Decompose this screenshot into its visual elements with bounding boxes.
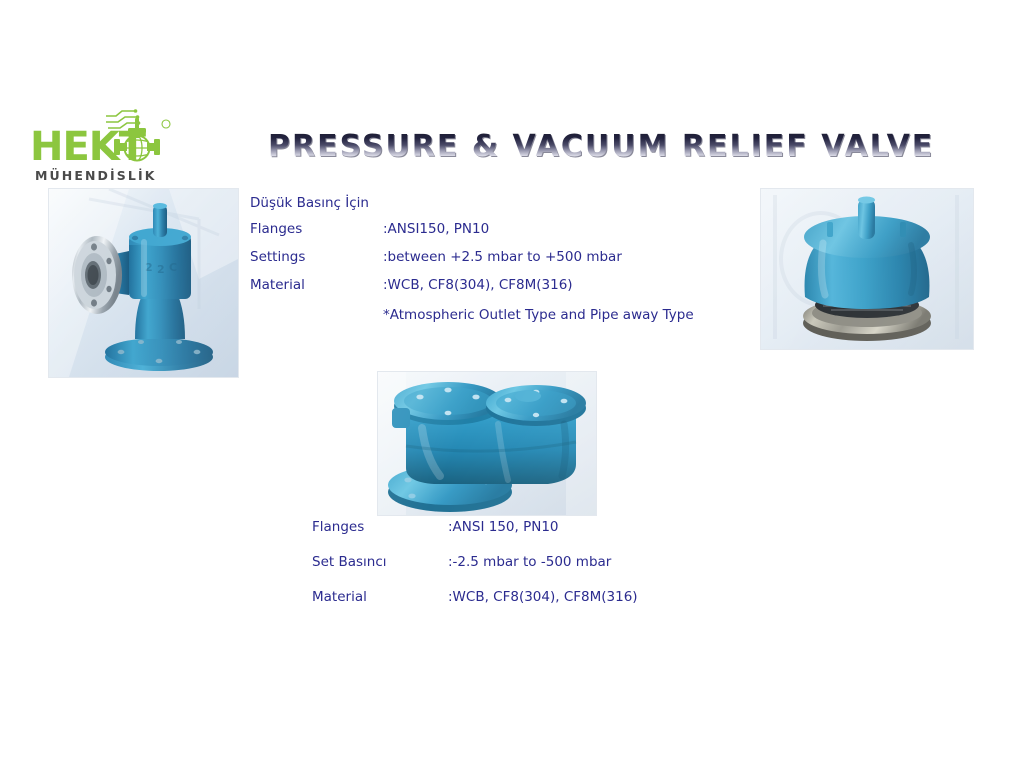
spec-label-flanges: Flanges [250, 221, 383, 237]
spec-note-types: *Atmospheric Outlet Type and Pipe away T… [250, 305, 770, 333]
spec-row-flanges-2: Flanges :ANSI 150, PN10 [312, 519, 742, 554]
globe-valve-circuit-icon [104, 108, 182, 170]
logo-subtitle: MÜHENDİSLİK [35, 168, 195, 183]
spec-row-settings: Settings :between +2.5 mbar to +500 mbar [250, 249, 770, 277]
spec-row-material-2: Material :WCB, CF8(304), CF8M(316) [312, 589, 742, 624]
spec-row-material: Material :WCB, CF8(304), CF8M(316) [250, 277, 770, 305]
top-spec-block: Düşük Basınç İçin Flanges :ANSI150, PN10… [250, 193, 770, 333]
spec-label-flanges-2: Flanges [312, 519, 448, 535]
spec-row-set-basinci: Set Basıncı :-2.5 mbar to -500 mbar [312, 554, 742, 589]
photo-haze [378, 372, 596, 515]
spec-value-settings: :between +2.5 mbar to +500 mbar [383, 249, 770, 265]
spec-value-material-2: :WCB, CF8(304), CF8M(316) [448, 589, 742, 605]
spec-lead-text: Düşük Basınç İçin [250, 193, 770, 221]
spec-value-set-basinci: :-2.5 mbar to -500 mbar [448, 554, 742, 570]
bottom-spec-block: Flanges :ANSI 150, PN10 Set Basıncı :-2.… [312, 519, 742, 624]
vacuum-relief-valve-photo [760, 188, 974, 350]
spec-label-material-2: Material [312, 589, 448, 605]
page-title-text: PRESSURE & VACUUM RELIEF VALVE [268, 129, 934, 164]
spec-value-flanges: :ANSI150, PN10 [383, 221, 770, 237]
spec-label-settings: Settings [250, 249, 383, 265]
spec-value-material: :WCB, CF8(304), CF8M(316) [383, 277, 770, 293]
spec-row-flanges: Flanges :ANSI150, PN10 [250, 221, 770, 249]
photo-haze [761, 189, 973, 349]
company-logo: HEKT [30, 108, 190, 188]
spec-label-material: Material [250, 277, 383, 293]
twin-chamber-valve-photo [377, 371, 597, 516]
spec-value-flanges-2: :ANSI 150, PN10 [448, 519, 742, 535]
angle-relief-valve-photo: 22C [48, 188, 239, 378]
spec-label-set-basinci: Set Basıncı [312, 554, 448, 570]
slide-canvas: HEKT [0, 0, 1024, 768]
page-title: PRESSURE & VACUUM RELIEF VALVE [268, 130, 768, 166]
photo-haze [49, 189, 238, 377]
